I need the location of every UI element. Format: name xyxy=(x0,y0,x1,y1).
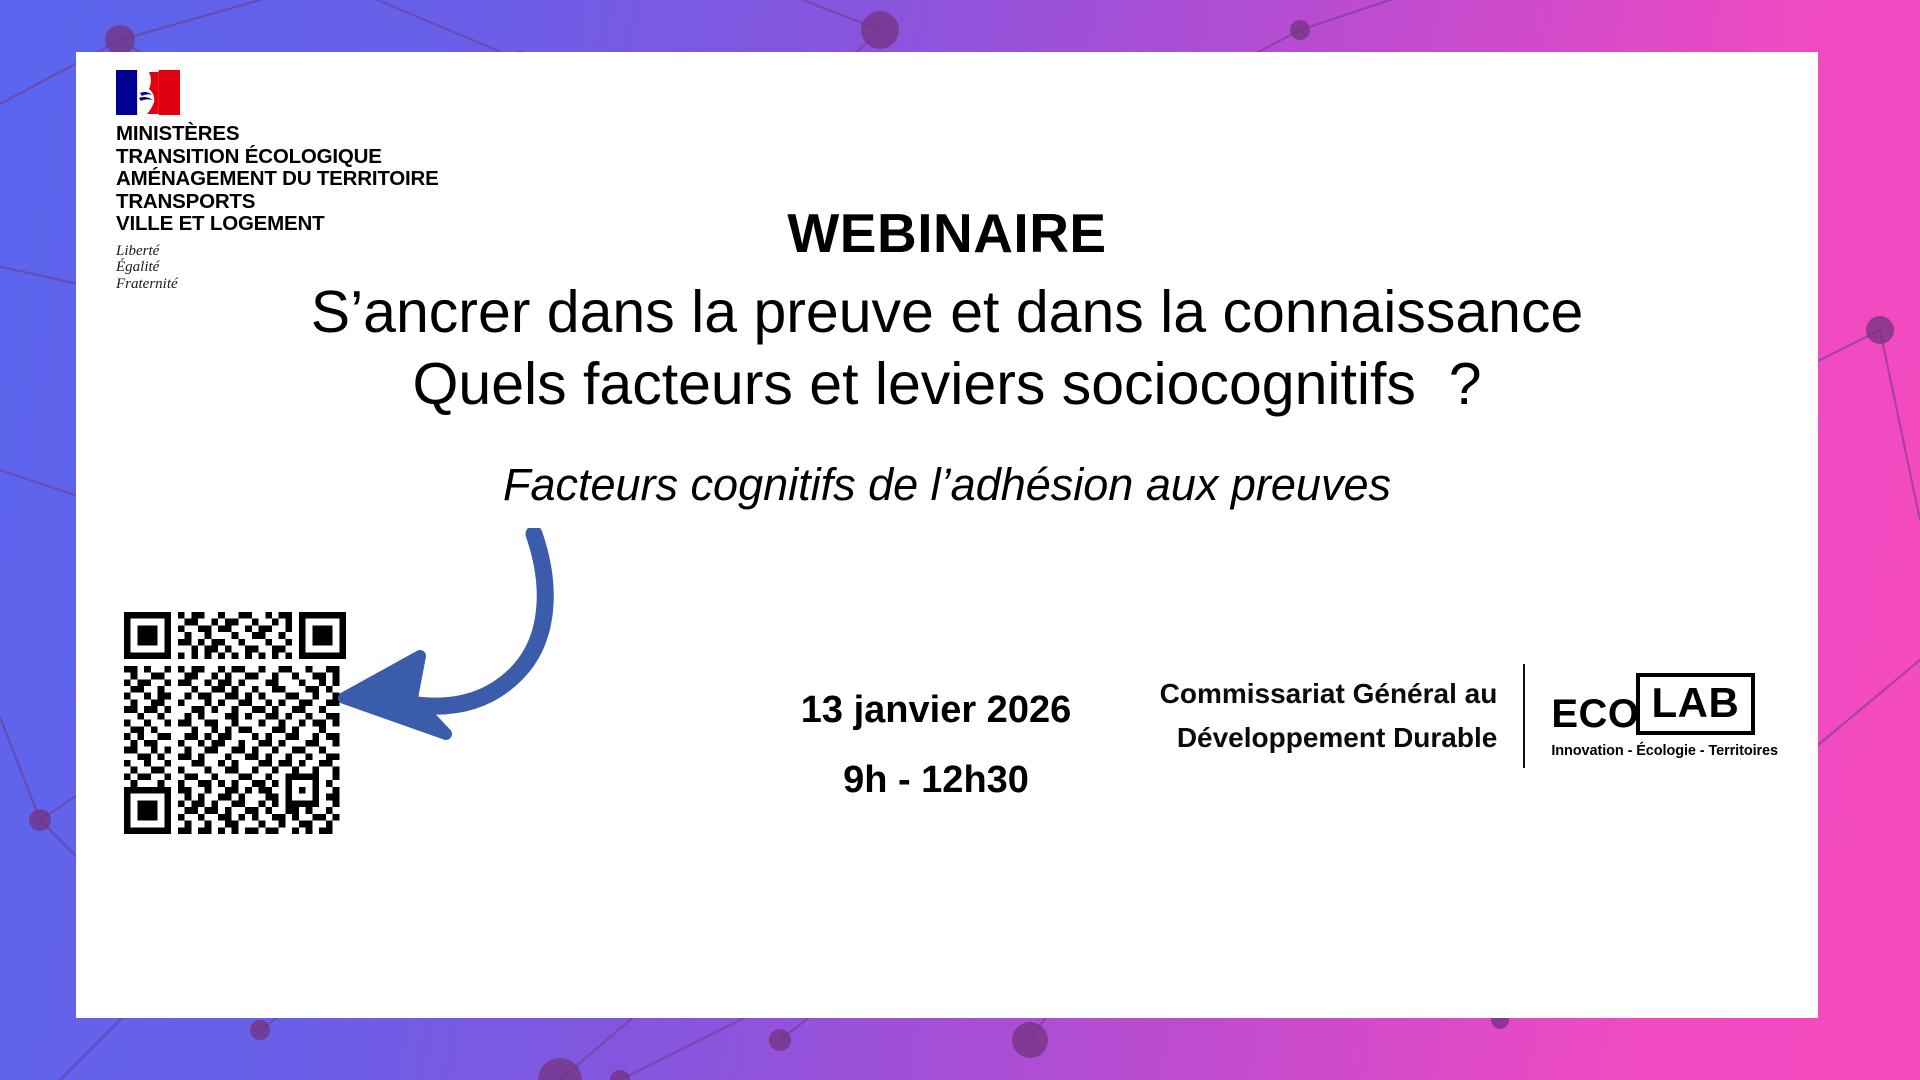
event-time: 9h - 12h30 xyxy=(636,754,1236,806)
page-title-line-1: S’ancrer dans la preuve et dans la conna… xyxy=(76,276,1818,348)
french-flag-marianne-icon xyxy=(116,70,180,115)
heading-block: WEBINAIRE S’ancrer dans la preuve et dan… xyxy=(76,202,1818,512)
page-title-line-2: Quels facteurs et leviers sociocognitifs… xyxy=(76,348,1818,420)
cgdd-line-2: Développement Durable xyxy=(1160,716,1498,760)
curved-arrow-icon xyxy=(338,528,558,743)
poster-card: MINISTÈRES TRANSITION ÉCOLOGIQUE AMÉNAGE… xyxy=(76,52,1818,1018)
qr-code[interactable] xyxy=(124,612,346,834)
ecolab-tagline: Innovation - Écologie - Territoires xyxy=(1551,742,1778,760)
cgdd-organisation-name: Commissariat Général au Développement Du… xyxy=(1160,672,1524,760)
event-date: 13 janvier 2026 xyxy=(636,684,1236,736)
ecolab-eco-text: ECO xyxy=(1551,694,1639,734)
ecolab-logo: ECO LAB Innovation - Écologie - Territoi… xyxy=(1525,673,1778,760)
ecolab-lab-text: LAB xyxy=(1636,673,1756,735)
footer-logos: Commissariat Général au Développement Du… xyxy=(1160,664,1778,768)
ecolab-wordmark: ECO LAB xyxy=(1551,673,1755,735)
webinar-poster: MINISTÈRES TRANSITION ÉCOLOGIQUE AMÉNAGE… xyxy=(0,0,1920,1080)
cgdd-line-1: Commissariat Général au xyxy=(1160,672,1498,716)
page-subtitle: Facteurs cognitifs de l’adhésion aux pre… xyxy=(76,458,1818,512)
webinar-kicker: WEBINAIRE xyxy=(76,202,1818,264)
event-datetime: 13 janvier 2026 9h - 12h30 xyxy=(636,684,1236,806)
